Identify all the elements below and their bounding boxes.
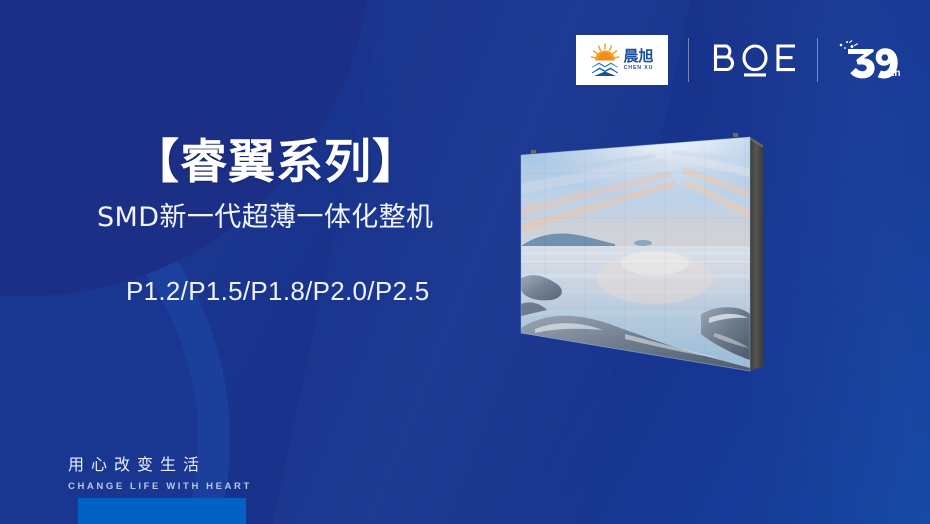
logo-divider-1 — [688, 38, 689, 82]
product-pixel-pitches: P1.2/P1.5/P1.8/P2.0/P2.5 — [126, 276, 512, 307]
anniversary-30th-icon: th — [834, 38, 908, 82]
tagline-block: 用心改变生活 CHANGE LIFE WITH HEART — [68, 451, 252, 492]
chenxu-logo-card: 晨旭 CHEN XU — [576, 35, 668, 85]
headline-block: 【睿翼系列】 SMD新一代超薄一体化整机 P1.2/P1.5/P1.8/P2.0… — [132, 136, 512, 307]
chenxu-sunrise-icon — [590, 43, 620, 77]
product-series-title: 【睿翼系列】 — [132, 136, 512, 191]
tagline-chinese: 用心改变生活 — [68, 451, 252, 475]
led-display-panel — [505, 128, 805, 388]
bottom-accent-bar — [78, 498, 246, 524]
svg-text:th: th — [891, 68, 900, 79]
mount-pin-left — [531, 150, 536, 154]
tagline-english: CHANGE LIFE WITH HEART — [68, 481, 252, 492]
presentation-slide: 晨旭 CHEN XU — [0, 0, 930, 524]
panel-side-bezel — [750, 137, 763, 371]
chenxu-chinese-name: 晨旭 — [623, 49, 653, 64]
product-subtitle: SMD新一代超薄一体化整机 — [97, 201, 512, 235]
chenxu-english-name: CHEN XU — [624, 66, 654, 71]
mount-pin-right — [733, 133, 738, 137]
logo-divider-2 — [817, 38, 818, 82]
header-logo-bar: 晨旭 CHEN XU — [576, 34, 908, 86]
boe-logo — [709, 42, 801, 78]
